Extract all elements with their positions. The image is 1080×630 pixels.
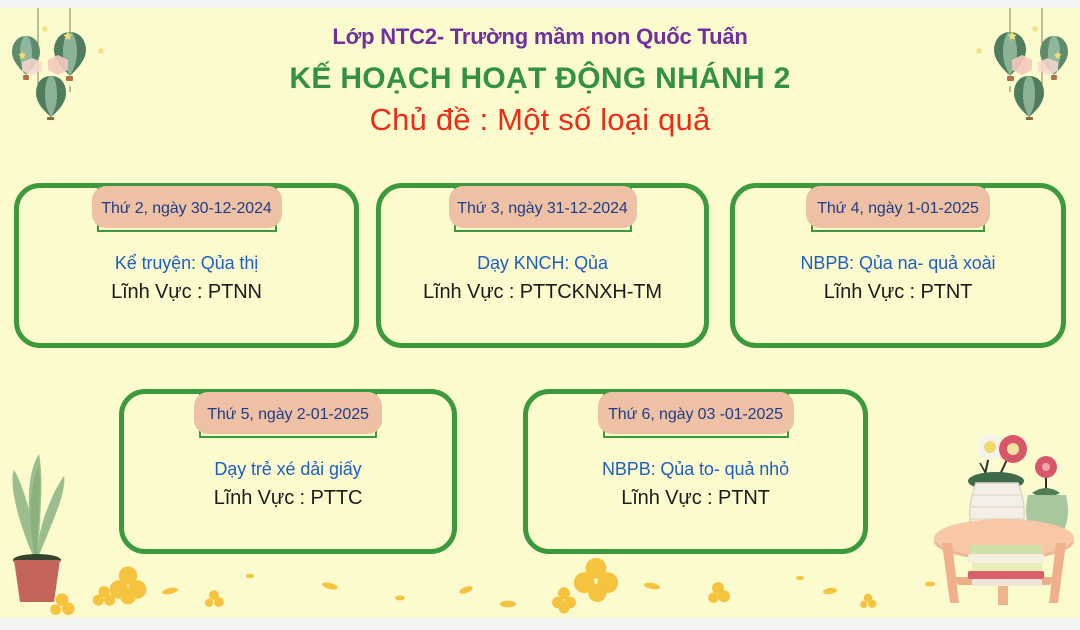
- activity-label: Dạy KNCH: Qủa: [381, 250, 704, 276]
- day-card[interactable]: Thứ 3, ngày 31-12-2024 Dạy KNCH: Qủa Lĩn…: [376, 183, 709, 348]
- field-label: Lĩnh Vực : PTNN: [19, 278, 354, 306]
- activity-label: NBPB: Qủa na- quả xoài: [735, 250, 1061, 276]
- date-badge-label: Thứ 6, ngày 03 -01-2025: [600, 406, 791, 424]
- activity-label: NBPB: Qủa to- quả nhỏ: [528, 456, 863, 482]
- slide: Lớp NTC2- Trường mầm non Quốc Tuấn KẾ HO…: [0, 0, 1080, 630]
- date-badge-label: Thứ 2, ngày 30-12-2024: [93, 200, 279, 218]
- day-card[interactable]: Thứ 6, ngày 03 -01-2025 NBPB: Qủa to- qu…: [523, 389, 868, 554]
- date-badge: Thứ 6, ngày 03 -01-2025: [603, 392, 789, 438]
- day-card[interactable]: Thứ 4, ngày 1-01-2025 NBPB: Qủa na- quả …: [730, 183, 1066, 348]
- page-title: KẾ HOẠCH HOẠT ĐỘNG NHÁNH 2: [0, 60, 1080, 98]
- slide-canvas: Lớp NTC2- Trường mầm non Quốc Tuấn KẾ HO…: [0, 8, 1080, 618]
- date-badge-label: Thứ 4, ngày 1-01-2025: [809, 200, 987, 218]
- date-badge: Thứ 3, ngày 31-12-2024: [454, 186, 632, 232]
- date-badge: Thứ 5, ngày 2-01-2025: [199, 392, 377, 438]
- field-label: Lĩnh Vực : PTNT: [528, 484, 863, 512]
- activity-label: Dạy trẻ xé dải giấy: [124, 456, 452, 482]
- day-card[interactable]: Thứ 5, ngày 2-01-2025 Dạy trẻ xé dải giấ…: [119, 389, 457, 554]
- field-label: Lĩnh Vực : PTTCKNXH-TM: [381, 278, 704, 306]
- page-subtitle: Chủ đề : Một số loại quả: [0, 100, 1080, 140]
- date-badge-label: Thứ 5, ngày 2-01-2025: [199, 406, 377, 424]
- date-badge-label: Thứ 3, ngày 31-12-2024: [449, 200, 635, 218]
- side-table-with-plants-and-books-decoration: [928, 419, 1078, 614]
- date-badge: Thứ 4, ngày 1-01-2025: [811, 186, 985, 232]
- date-badge: Thứ 2, ngày 30-12-2024: [97, 186, 277, 232]
- school-line: Lớp NTC2- Trường mầm non Quốc Tuấn: [0, 22, 1080, 52]
- field-label: Lĩnh Vực : PTNT: [735, 278, 1061, 306]
- field-label: Lĩnh Vực : PTTC: [124, 484, 452, 512]
- day-card[interactable]: Thứ 2, ngày 30-12-2024 Kể truyện: Qủa th…: [14, 183, 359, 348]
- activity-label: Kể truyện: Qủa thị: [19, 250, 354, 276]
- potted-snake-plant-decoration: [2, 430, 72, 610]
- slide-header: Lớp NTC2- Trường mầm non Quốc Tuấn KẾ HO…: [0, 8, 1080, 140]
